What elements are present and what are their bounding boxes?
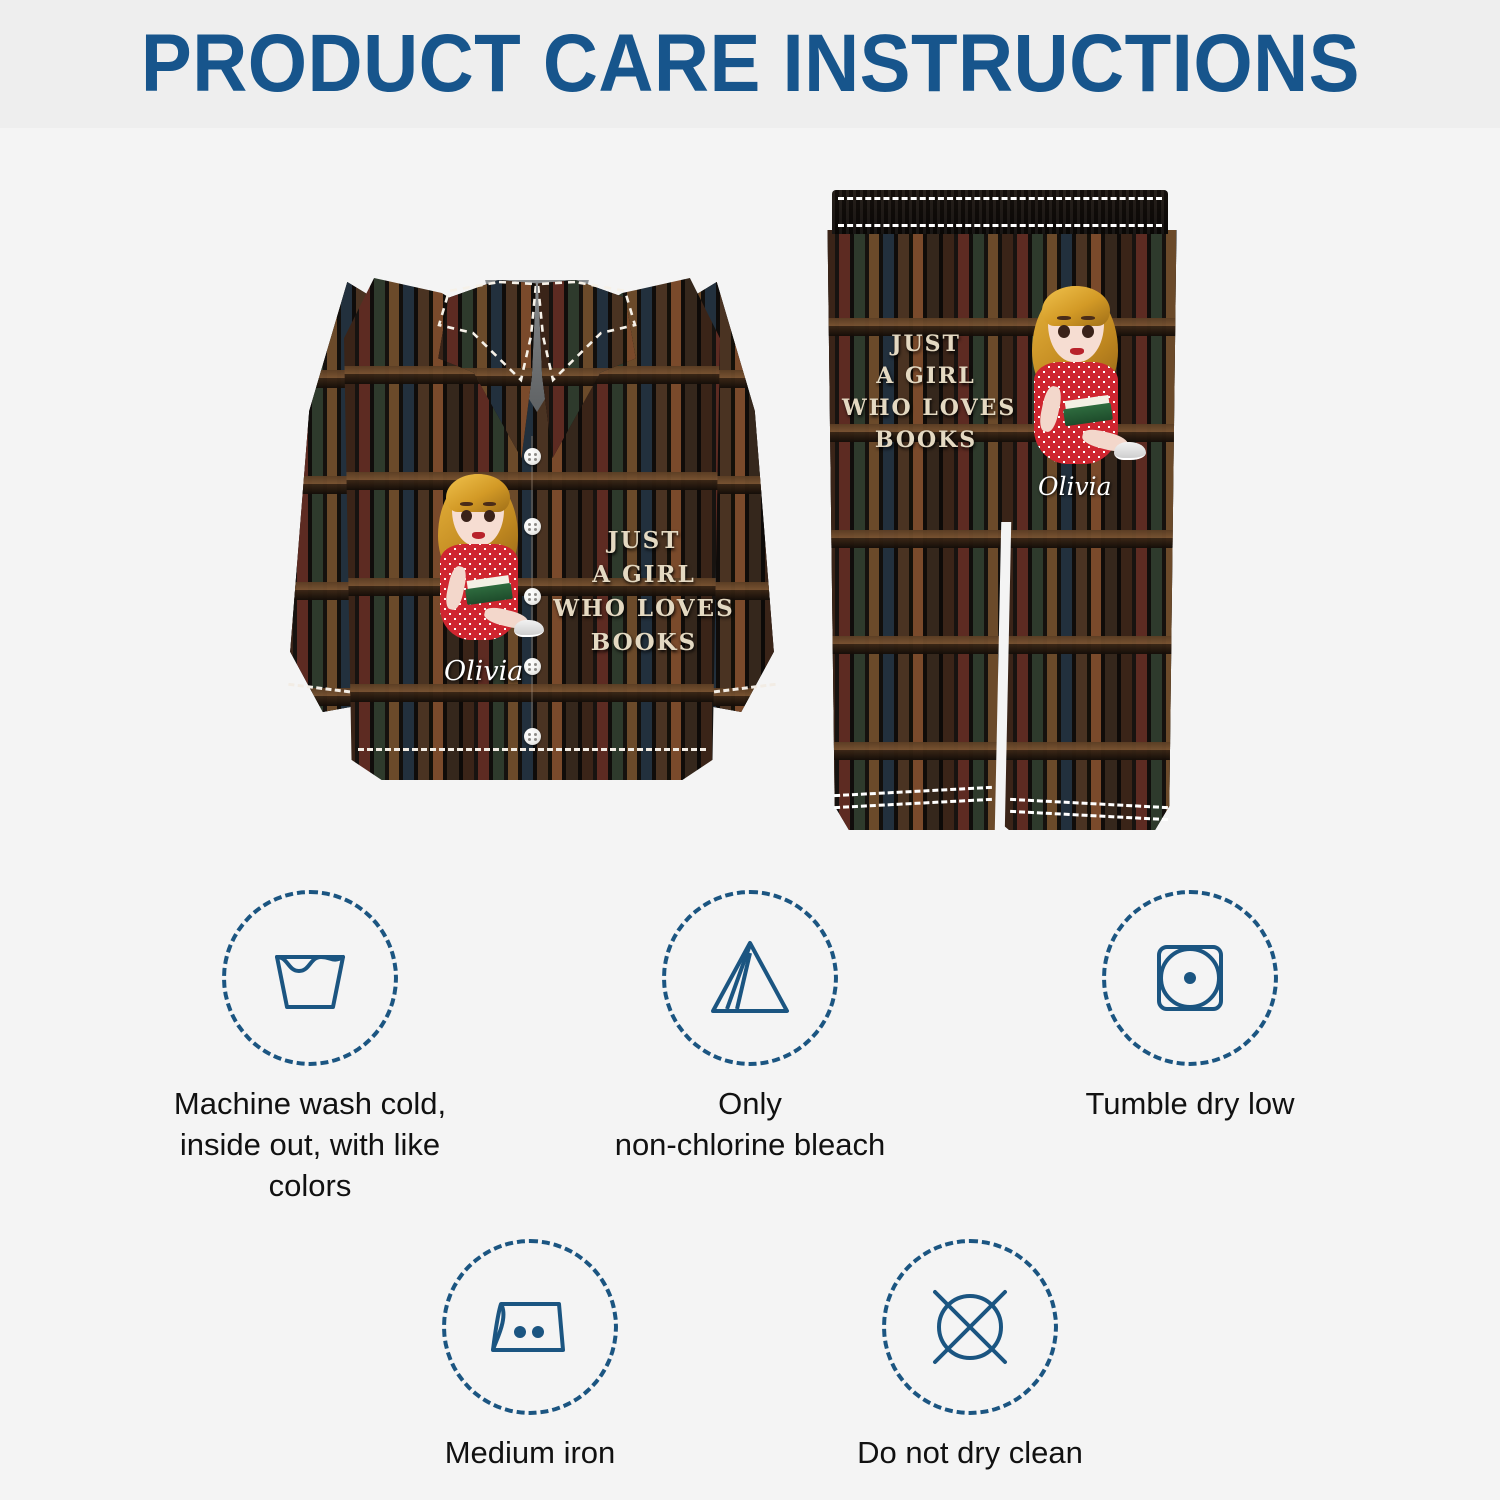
- care-circle-tumble-dry: [1102, 890, 1278, 1066]
- shirt-print-slogan-line-1: JUST: [556, 526, 732, 556]
- shirt-print-slogan-line-4: BOOKS: [556, 628, 732, 658]
- shirt-print-name: Olivia: [444, 656, 523, 687]
- care-item-iron: Medium iron: [370, 1239, 690, 1474]
- product-images: JUST A GIRL WHO LOVES BOOKS Olivia: [0, 128, 1500, 888]
- shirt-print-slogan-line-3: WHO LOVES: [548, 594, 740, 624]
- tumble-dry-low-icon: [1135, 923, 1245, 1033]
- pants-print-slogan-line-2: A GIRL: [852, 362, 1000, 391]
- iron-medium-icon: [475, 1272, 585, 1382]
- pajama-shirt: JUST A GIRL WHO LOVES BOOKS Olivia: [282, 260, 782, 780]
- care-symbol-row-1: Machine wash cold, inside out, with like…: [0, 890, 1500, 1207]
- care-label-machine-wash: Machine wash cold, inside out, with like…: [150, 1084, 470, 1207]
- care-item-machine-wash: Machine wash cold, inside out, with like…: [150, 890, 470, 1207]
- care-label-dry-clean: Do not dry clean: [857, 1433, 1083, 1474]
- bleach-triangle-icon: [695, 923, 805, 1033]
- care-label-tumble-dry: Tumble dry low: [1085, 1084, 1294, 1125]
- pants-print-slogan-line-4: BOOKS: [856, 426, 996, 455]
- shirt-hem-stitch: [358, 748, 706, 751]
- waistband-stitch-bottom: [838, 224, 1162, 227]
- pants-leg-left: [824, 230, 1002, 830]
- waistband-stitch-top: [838, 197, 1162, 200]
- care-circle-bleach: [662, 890, 838, 1066]
- pants-print-name: Olivia: [1038, 472, 1112, 501]
- do-not-dry-clean-icon: [915, 1272, 1025, 1382]
- shirt-button-1: [524, 448, 541, 465]
- shirt-button-4: [524, 658, 541, 675]
- care-item-bleach: Only non-chlorine bleach: [590, 890, 910, 1207]
- shirt-print-character: [422, 470, 552, 660]
- care-circle-machine-wash: [222, 890, 398, 1066]
- pants-print-slogan-line-3: WHO LOVES: [842, 394, 1010, 423]
- care-item-tumble-dry: Tumble dry low: [1030, 890, 1350, 1207]
- care-item-dry-clean: Do not dry clean: [810, 1239, 1130, 1474]
- pajama-pants: JUST A GIRL WHO LOVES BOOKS Olivia: [820, 190, 1180, 840]
- wash-basin-icon: [255, 923, 365, 1033]
- shirt-print-slogan-line-2: A GIRL: [556, 560, 732, 590]
- care-label-bleach: Only non-chlorine bleach: [615, 1084, 886, 1166]
- pants-print-slogan-line-1: JUST: [856, 330, 996, 359]
- shirt-button-5: [524, 728, 541, 745]
- page-header: PRODUCT CARE INSTRUCTIONS: [0, 0, 1500, 128]
- pants-print-character: [1016, 282, 1156, 482]
- care-label-iron: Medium iron: [445, 1433, 616, 1474]
- care-instructions-page: PRODUCT CARE INSTRUCTIONS: [0, 0, 1500, 1500]
- care-circle-iron: [442, 1239, 618, 1415]
- care-circle-dry-clean: [882, 1239, 1058, 1415]
- page-title: PRODUCT CARE INSTRUCTIONS: [140, 17, 1359, 111]
- care-symbol-row-2: Medium iron Do not dry clean: [0, 1239, 1500, 1474]
- care-symbol-grid: Machine wash cold, inside out, with like…: [0, 890, 1500, 1474]
